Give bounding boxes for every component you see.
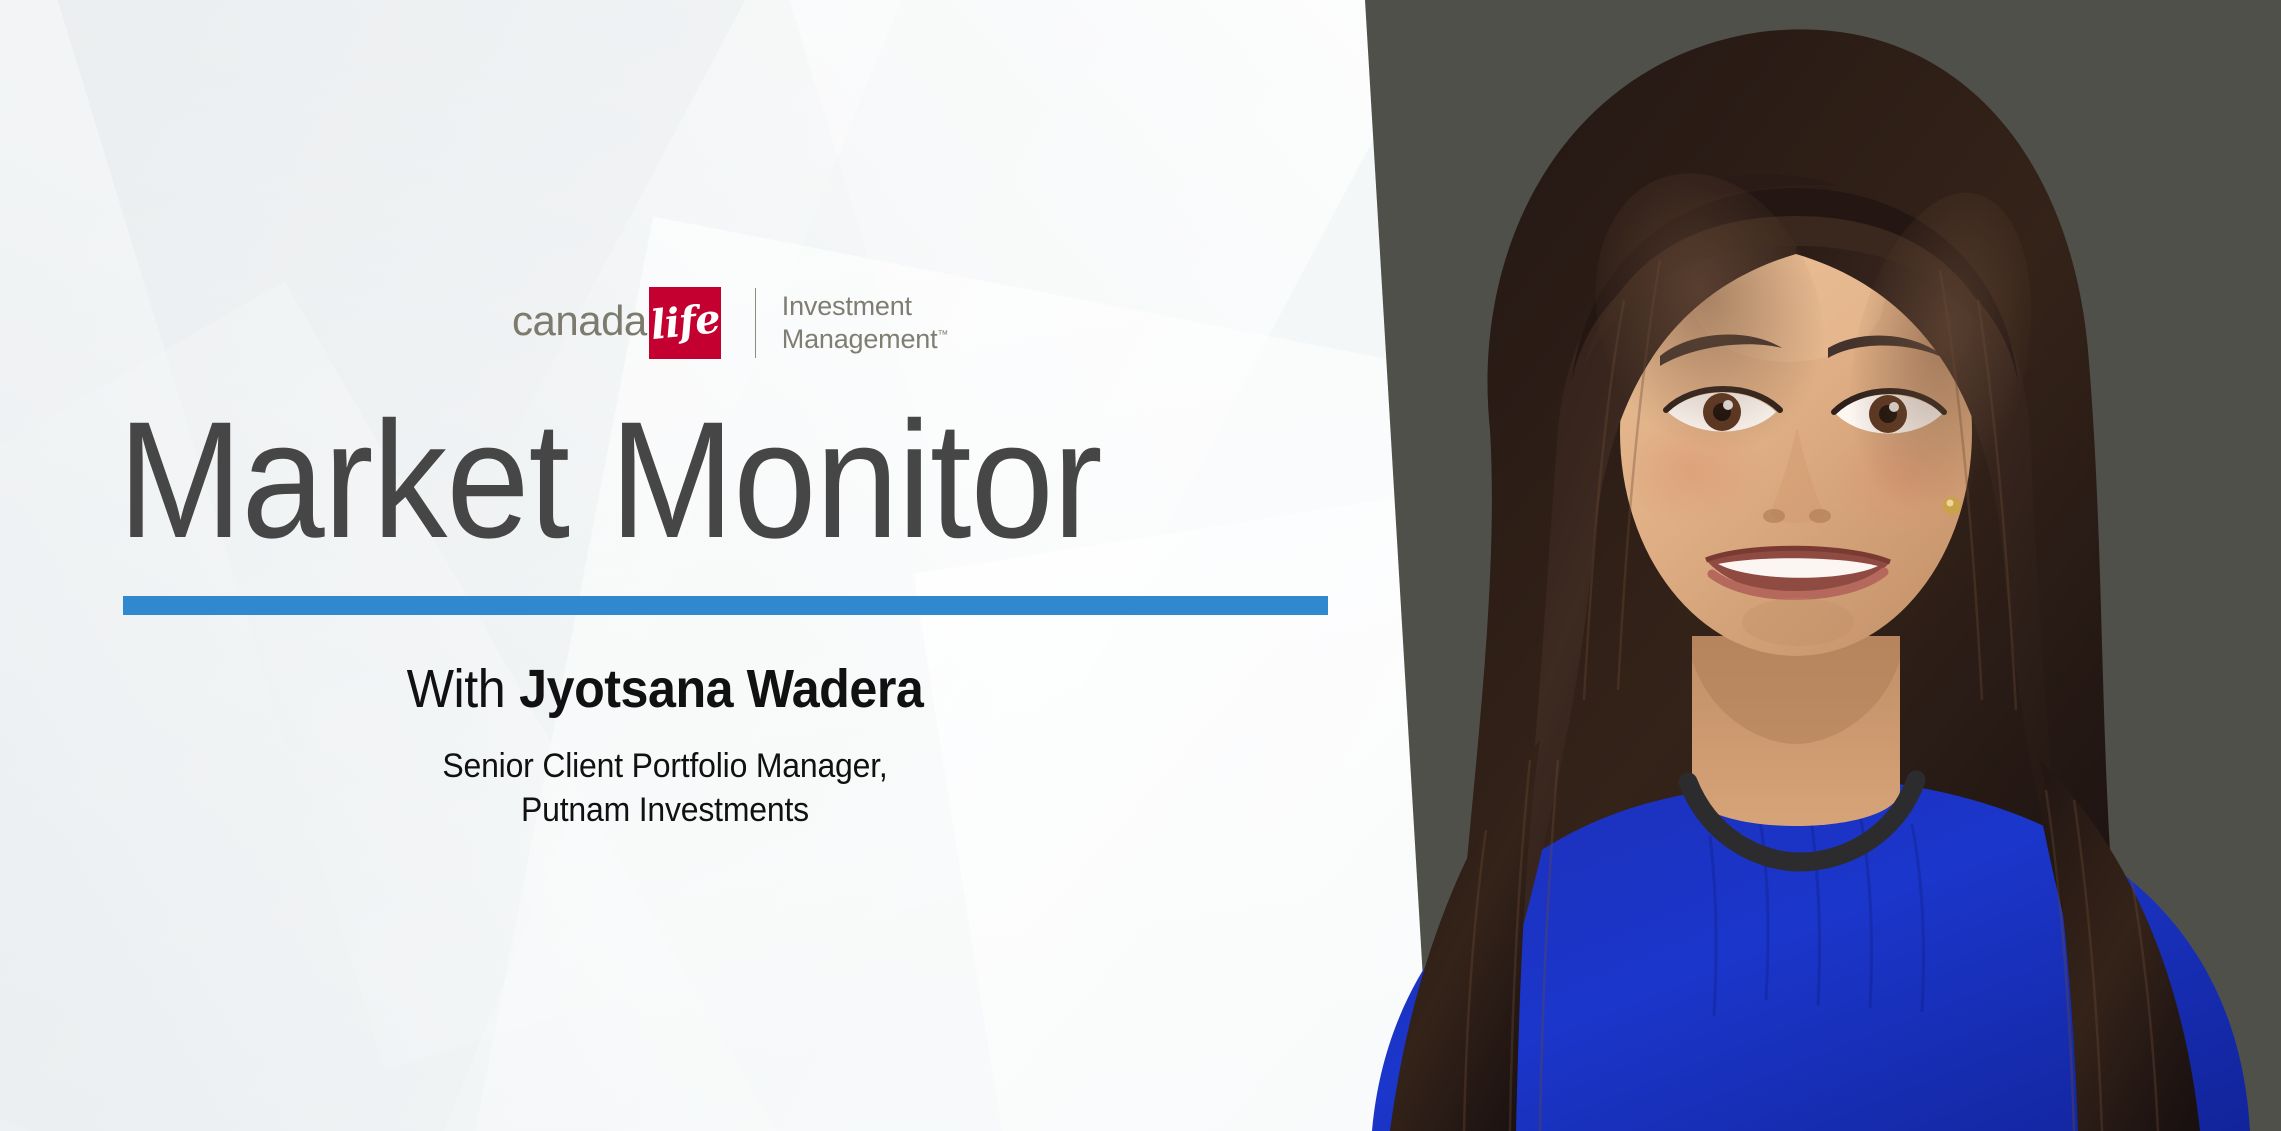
mouth <box>1706 548 1890 595</box>
presenter-name-line: With Jyotsana Wadera <box>47 660 1284 719</box>
logo-wordmark-canada: canada <box>512 300 647 346</box>
earring <box>1943 497 1961 515</box>
trademark-symbol: ™ <box>937 329 948 341</box>
presenter-portrait <box>1240 0 2281 1131</box>
presenter-role-line-1: Senior Client Portfolio Manager, <box>442 747 887 785</box>
logo-division-line-2: Management <box>782 324 938 354</box>
presenter-role: Senior Client Portfolio Manager, Putnam … <box>40 745 1290 832</box>
logo-divider <box>755 288 756 358</box>
logo-division-name: Investment Management™ <box>782 290 949 356</box>
presenter-role-line-2: Putnam Investments <box>521 791 809 829</box>
title-underline-rule <box>123 596 1328 615</box>
logo-life-script: life <box>649 295 721 349</box>
presenter-block: With Jyotsana Wadera Senior Client Portf… <box>0 660 1330 832</box>
page-title: Market Monitor <box>118 398 1102 564</box>
presenter-with-label: With <box>407 659 506 719</box>
market-monitor-banner: canada life Investment Management™ Marke… <box>0 0 2281 1131</box>
logo-life-mark: life <box>649 287 721 359</box>
presenter-name: Jyotsana Wadera <box>519 659 923 719</box>
chin-shadow <box>1742 598 1854 646</box>
logo-division-line-1: Investment <box>782 291 912 321</box>
canada-life-logo: canada life Investment Management™ <box>512 287 948 359</box>
